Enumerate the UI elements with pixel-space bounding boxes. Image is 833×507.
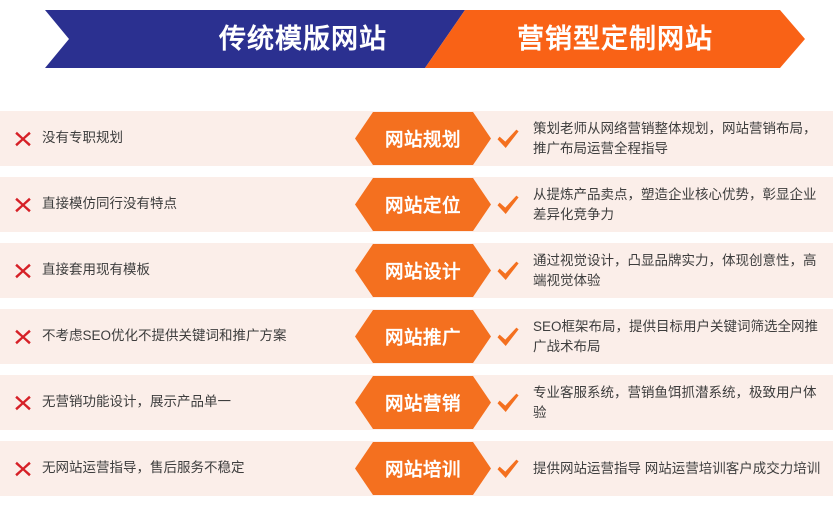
row-con-cell: 直接套用现有模板 (0, 243, 398, 298)
cross-icon (14, 196, 32, 214)
row-badge-label: 网站规划 (385, 126, 461, 152)
row-con-text: 无营销功能设计，展示产品单一 (42, 393, 231, 411)
row-pro-text: 策划老师从网络营销整体规划，网站营销布局，推广布局运营全程指导 (533, 119, 825, 158)
check-icon (496, 194, 520, 216)
row-con-cell: 直接模仿同行没有特点 (0, 177, 398, 232)
check-icon (496, 326, 520, 348)
cross-icon (14, 130, 32, 148)
row-con-cell: 没有专职规划 (0, 111, 398, 166)
row-badge-label: 网站培训 (385, 456, 461, 482)
row-con-text: 无网站运营指导，售后服务不稳定 (42, 459, 245, 477)
check-icon (496, 260, 520, 282)
row-badge: 网站培训 (355, 442, 491, 495)
comparison-rows: 没有专职规划 策划老师从网络营销整体规划，网站营销布局，推广布局运营全程指导 网… (0, 111, 833, 507)
row-pro-text: 专业客服系统，营销鱼饵抓潜系统，极致用户体验 (533, 383, 825, 422)
row-pro-text: 通过视觉设计，凸显品牌实力，体现创意性，高端视觉体验 (533, 251, 825, 290)
comparison-row: 没有专职规划 策划老师从网络营销整体规划，网站营销布局，推广布局运营全程指导 网… (0, 111, 833, 166)
row-con-cell: 无营销功能设计，展示产品单一 (0, 375, 398, 430)
comparison-row: 不考虑SEO优化不提供关键词和推广方案 SEO框架布局，提供目标用户关键词筛选全… (0, 309, 833, 364)
comparison-row: 无营销功能设计，展示产品单一 专业客服系统，营销鱼饵抓潜系统，极致用户体验 网站… (0, 375, 833, 430)
row-badge: 网站推广 (355, 310, 491, 363)
row-con-cell: 不考虑SEO优化不提供关键词和推广方案 (0, 309, 398, 364)
row-con-cell: 无网站运营指导，售后服务不稳定 (0, 441, 398, 496)
cross-icon (14, 394, 32, 412)
comparison-row: 直接模仿同行没有特点 从提炼产品卖点，塑造企业核心优势，彰显企业差异化竞争力 网… (0, 177, 833, 232)
row-badge: 网站定位 (355, 178, 491, 231)
check-icon (496, 392, 520, 414)
row-con-text: 不考虑SEO优化不提供关键词和推广方案 (42, 327, 287, 345)
check-icon (496, 458, 520, 480)
comparison-row: 无网站运营指导，售后服务不稳定 提供网站运营指导 网站运营培训客户成交力培训 网… (0, 441, 833, 496)
row-badge-label: 网站定位 (385, 192, 461, 218)
cross-icon (14, 262, 32, 280)
row-badge: 网站设计 (355, 244, 491, 297)
row-pro-text: 从提炼产品卖点，塑造企业核心优势，彰显企业差异化竞争力 (533, 185, 825, 224)
cross-icon (14, 460, 32, 478)
row-pro-text: 提供网站运营指导 网站运营培训客户成交力培训 (533, 459, 825, 479)
row-con-text: 直接套用现有模板 (42, 261, 150, 279)
cross-icon (14, 328, 32, 346)
row-con-text: 没有专职规划 (42, 129, 123, 147)
banner-traditional-label: 传统模版网站 (193, 10, 413, 68)
comparison-row: 直接套用现有模板 通过视觉设计，凸显品牌实力，体现创意性，高端视觉体验 网站设计 (0, 243, 833, 298)
check-icon (496, 128, 520, 150)
row-badge-label: 网站营销 (385, 390, 461, 416)
row-badge: 网站营销 (355, 376, 491, 429)
comparison-header-banner: 传统模版网站 营销型定制网站 (45, 10, 805, 68)
row-pro-text: SEO框架布局，提供目标用户关键词筛选全网推广战术布局 (533, 317, 825, 356)
row-con-text: 直接模仿同行没有特点 (42, 195, 177, 213)
row-badge: 网站规划 (355, 112, 491, 165)
row-badge-label: 网站推广 (385, 324, 461, 350)
banner-marketing-label: 营销型定制网站 (475, 10, 755, 68)
row-badge-label: 网站设计 (385, 258, 461, 284)
